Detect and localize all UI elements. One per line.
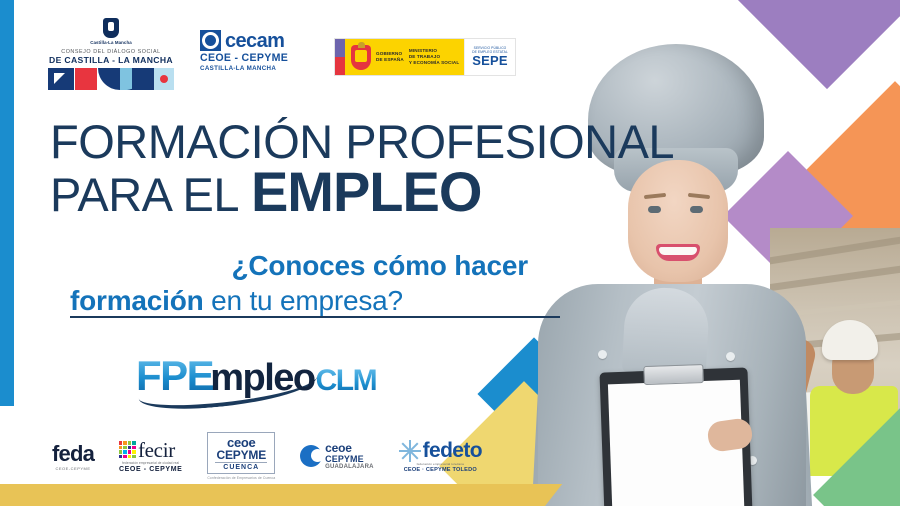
chef-eyebrow — [688, 193, 710, 199]
gob-flag-bar — [335, 39, 345, 75]
fecir-word: fecir — [138, 440, 175, 460]
logo-fedeto: fedeto federación empresarial toledana C… — [399, 440, 482, 473]
question-en-tu-empresa: en tu empresa? — [204, 285, 403, 316]
guadalajara-wordmark-row: ceoe CEPYME GUADALAJARA — [300, 442, 374, 471]
fedeto-sub1: federación empresarial toledana — [399, 462, 482, 466]
bottom-accent-bar — [0, 484, 525, 506]
fpe-part-fpe: FPE — [136, 352, 213, 400]
footer-logo-row: feda CEOE-CEPYME fecir federación empres… — [52, 432, 482, 480]
guadalajara-text: ceoe CEPYME GUADALAJARA — [325, 442, 374, 471]
headline-line-2: PARA EL EMPLEO — [50, 164, 674, 223]
chef-button — [726, 352, 735, 361]
headline-para-el: PARA EL — [50, 167, 239, 223]
logo-fecir: fecir federación empresarial de ciudad r… — [119, 440, 182, 473]
cuenca-province: CUENCA — [215, 462, 267, 471]
cecam-sub2: CASTILLA-LA MANCHA — [200, 65, 308, 72]
cecam-word: cecam — [225, 31, 284, 51]
cecam-sub: CEOE - CEPYME — [200, 52, 308, 64]
logo-sepe: SERVICIO PÚBLICODE EMPLEO ESTATAL SEPE — [464, 39, 515, 75]
feda-sub: CEOE-CEPYME — [52, 466, 94, 471]
question-formacion: formación — [70, 285, 204, 316]
fedeto-wordmark-row: fedeto — [399, 440, 482, 462]
fedeto-word: fedeto — [423, 441, 482, 461]
gob-yellow-panel: GOBIERNODE ESPAÑA MINISTERIODE TRABAJOY … — [345, 39, 464, 75]
question-line-1-text: ¿Conoces cómo hacer — [231, 250, 528, 281]
fecir-wordmark-row: fecir — [119, 440, 182, 460]
fecir-color-grid-icon — [119, 441, 136, 458]
question-line-1: ¿Conoces cómo hacer — [68, 248, 528, 283]
fecir-sub2: CEOE - CEPYME — [119, 466, 182, 473]
cuenca-cepyme: CEPYME — [215, 449, 267, 461]
jccm-graphic-strip — [48, 68, 174, 90]
fpe-part-clm: CLM — [316, 364, 376, 398]
fedeto-star-icon — [399, 440, 421, 462]
logo-feda: feda CEOE-CEPYME — [52, 442, 94, 471]
logo-gobierno-espana-sepe: GOBIERNODE ESPAÑA MINISTERIODE TRABAJOY … — [334, 38, 516, 76]
cecam-wordmark-row: cecam — [200, 30, 308, 51]
spain-coat-of-arms-icon — [351, 45, 371, 70]
poster-canvas: Castilla-La Mancha CONSEJO DEL DIÁLOGO S… — [0, 0, 900, 506]
feda-word: feda — [52, 442, 94, 465]
jccm-line2: DE CASTILLA - LA MANCHA — [48, 55, 174, 65]
worker-hard-hat — [822, 320, 878, 360]
question-line-2: formación en tu empresa? — [68, 283, 528, 318]
logo-cecam: cecam CEOE - CEPYME CASTILLA-LA MANCHA — [200, 18, 308, 72]
logo-ceoe-cepyme-cuenca: ceoe CEPYME CUENCA Confederación de Empr… — [207, 432, 275, 480]
cuenca-logo-box: ceoe CEPYME CUENCA — [207, 432, 275, 474]
chef-eye — [690, 206, 703, 213]
jccm-region-label: Castilla-La Mancha — [48, 40, 174, 45]
castilla-shield-icon — [103, 18, 119, 38]
gob-ministerio-label: MINISTERIODE TRABAJOY ECONOMÍA SOCIAL — [409, 48, 460, 66]
guadalajara-province: GUADALAJARA — [325, 464, 374, 471]
chef-lapel — [622, 286, 710, 376]
left-accent-bar — [0, 0, 14, 406]
cecam-circle-icon — [200, 30, 221, 51]
sepe-word: SEPE — [472, 54, 507, 68]
guadalajara-circle-icon — [300, 445, 322, 467]
guadalajara-cepyme: CEPYME — [325, 454, 374, 464]
guadalajara-ceoe: ceoe — [325, 442, 374, 454]
fpe-part-mpleo: mpleo — [210, 357, 314, 400]
page-title: FORMACIÓN PROFESIONAL PARA EL EMPLEO — [50, 116, 674, 223]
chef-button — [598, 350, 607, 359]
gob-gobierno-label: GOBIERNODE ESPAÑA — [376, 51, 404, 63]
chef-teeth — [659, 247, 697, 255]
logo-ceoe-cepyme-guadalajara: ceoe CEPYME GUADALAJARA — [300, 442, 374, 471]
fpe-wordmark: FPE mpleo CLM — [136, 352, 376, 400]
top-logo-row: Castilla-La Mancha CONSEJO DEL DIÁLOGO S… — [48, 18, 516, 90]
subheading-question: ¿Conoces cómo hacer formación en tu empr… — [68, 248, 528, 318]
cuenca-caption: Confederación de Empresarios de Cuenca — [207, 476, 275, 480]
fecir-sub1: federación empresarial de ciudad real — [119, 461, 182, 465]
fedeto-sub2: CEOE · CEPYME TOLEDO — [399, 467, 482, 473]
clipboard-clip — [643, 364, 704, 385]
chef-photo — [512, 44, 812, 506]
logo-junta-castilla-la-mancha: Castilla-La Mancha CONSEJO DEL DIÁLOGO S… — [48, 18, 174, 90]
question-underline — [70, 316, 560, 318]
logo-fpempleoclm: FPE mpleo CLM — [136, 352, 396, 400]
headline-empleo: EMPLEO — [251, 164, 481, 220]
